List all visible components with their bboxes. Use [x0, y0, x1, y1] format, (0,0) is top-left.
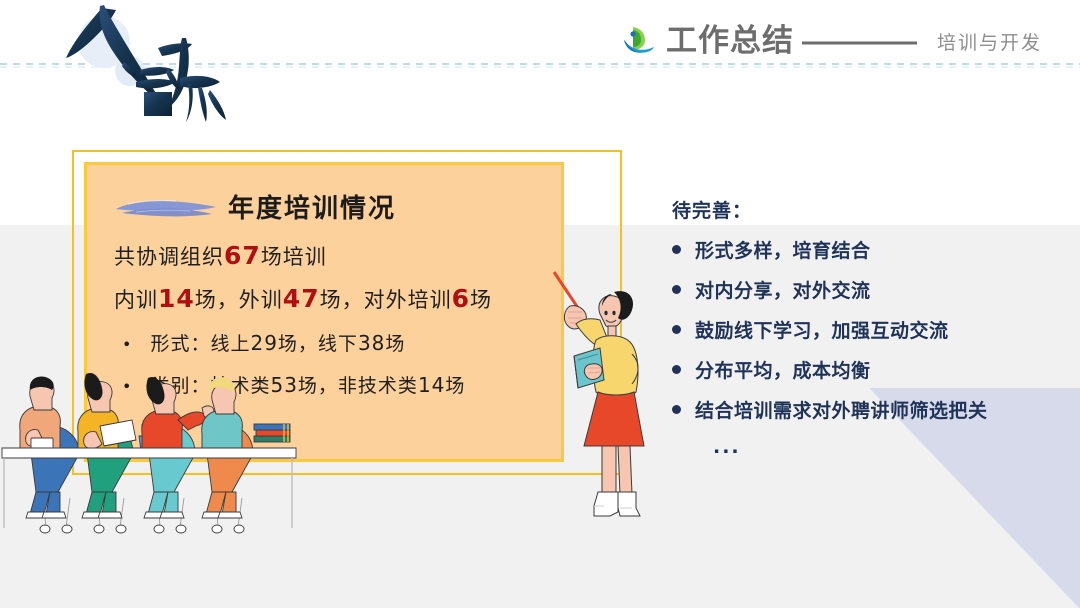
bullet-dot-icon [672, 325, 681, 334]
panel-title-row: 年度培训情况 [106, 184, 546, 228]
bullet-c: 场 [385, 329, 405, 356]
list-item-label: 对内分享，对外交流 [695, 276, 871, 303]
bullet-b: 场，非技术类 [298, 371, 418, 398]
breakdown-p2: 场，外训 [195, 288, 283, 312]
list-item: 结合培训需求对外聘讲师筛选把关 [672, 396, 1052, 423]
list-item-label: 形式多样，培育结合 [695, 236, 871, 263]
blue-brushstroke-icon [112, 195, 222, 221]
bullet-nb: 14 [418, 373, 445, 397]
panel-breakdown-line: 内训14场，外训47场，对外培训6场 [106, 284, 546, 314]
improvements-list: 待完善： 形式多样，培育结合 对内分享，对外交流 鼓励线下学习，加强互动交流 分… [672, 196, 1052, 458]
breakdown-n2: 47 [283, 284, 320, 313]
bullet-dot-icon [672, 365, 681, 374]
header-brand-block: 工作总结 ———— 培训与开发 [620, 16, 1042, 66]
slide-canvas: 工作总结 ———— 培训与开发 年度培训情况 共协调组织67场培训 内训14场，… [0, 0, 1080, 608]
breakdown-p3: 场，对外培训 [320, 288, 452, 312]
bullet-c: 场 [445, 371, 465, 398]
bullet-dot-icon [672, 285, 681, 294]
improvements-ellipsis: ... [713, 436, 1052, 458]
panel-total-line: 共协调组织67场培训 [106, 241, 546, 271]
total-suffix: 场培训 [261, 245, 327, 269]
list-item: 鼓励线下学习，加强互动交流 [672, 316, 1052, 343]
total-prefix: 共协调组织 [114, 245, 224, 269]
improvements-heading: 待完善： [672, 196, 1052, 223]
list-item: 对内分享，对外交流 [672, 276, 1052, 303]
breakdown-p4: 场 [470, 288, 492, 312]
list-item: 分布平均，成本均衡 [672, 356, 1052, 383]
breakdown-n1: 14 [158, 284, 195, 313]
header-title: 工作总结 [666, 26, 794, 57]
teacher-with-pointer-illustration [552, 268, 662, 538]
breakdown-p1: 内训 [114, 288, 158, 312]
list-item-label: 分布平均，成本均衡 [695, 356, 871, 383]
calligraphy-strokes-icon [40, 0, 270, 135]
students-at-desk-illustration [0, 352, 300, 542]
leaf-swoosh-logo-icon [620, 23, 656, 59]
total-number: 67 [224, 241, 261, 270]
header-subtitle: 培训与开发 [937, 28, 1042, 55]
header-dashes: ———— [802, 23, 914, 59]
hr-calligraphy-logo [40, 0, 270, 135]
bullet-dot-icon [672, 245, 681, 254]
list-item: 形式多样，培育结合 [672, 236, 1052, 263]
breakdown-n3: 6 [452, 284, 470, 313]
list-item-label: 结合培训需求对外聘讲师筛选把关 [695, 396, 988, 423]
bullet-dot-icon [672, 405, 681, 414]
panel-title: 年度培训情况 [228, 188, 396, 225]
bullet-nb: 38 [358, 331, 385, 355]
list-item-label: 鼓励线下学习，加强互动交流 [695, 316, 949, 343]
bullet-dot-icon: • [122, 337, 132, 353]
